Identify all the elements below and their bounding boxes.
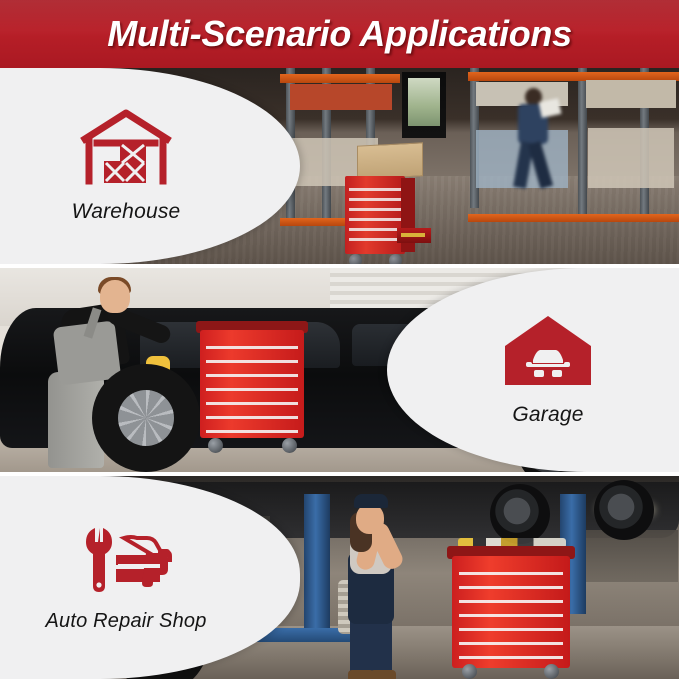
red-tool-cart: [345, 158, 417, 264]
section-garage: Garage: [0, 268, 679, 472]
mechanic-legs: [350, 616, 392, 674]
auto-repair-shop-label: Auto Repair Shop: [45, 610, 206, 633]
red-tool-cabinet: [200, 330, 304, 454]
section-warehouse: Warehouse: [0, 68, 679, 264]
cart-drawer: [459, 614, 563, 617]
cart-caster: [462, 664, 477, 679]
mechanic-cap: [354, 494, 388, 508]
wrench-car-icon: [80, 522, 172, 601]
female-mechanic: [330, 494, 416, 679]
cart-drawer: [459, 600, 563, 603]
red-tool-cart: [452, 556, 570, 679]
cart-drawer: [349, 198, 401, 201]
garage-car-icon: [503, 313, 593, 394]
cart-drawer: [459, 642, 563, 645]
cart-drawer: [459, 572, 563, 575]
cart-drawer: [349, 208, 401, 211]
warehouse-label: Warehouse: [72, 200, 181, 224]
cart-drawer: [349, 228, 401, 231]
cart-drawer: [459, 586, 563, 589]
open-drawer-with-tools: [397, 228, 431, 243]
warehouse-daylight: [408, 78, 440, 126]
cardboard-box: [357, 142, 423, 179]
rack-pallet: [588, 128, 674, 188]
lift-post: [304, 494, 330, 634]
cart-drawer: [459, 628, 563, 631]
page-title: Multi-Scenario Applications: [107, 13, 572, 55]
multi-scenario-applications-poster: Multi-Scenario Applications: [0, 0, 679, 679]
cabinet-caster: [282, 438, 297, 453]
worker-leg: [528, 141, 553, 189]
cabinet-drawer: [206, 346, 298, 349]
cart-caster: [544, 664, 559, 679]
mechanic-head: [100, 280, 130, 313]
cabinet-drawer: [206, 430, 298, 433]
section-auto-repair-shop: Auto Repair Shop: [0, 476, 679, 679]
cabinet-drawer: [206, 360, 298, 363]
mechanic-boot: [370, 670, 396, 679]
warehouse-barn-icon: [80, 108, 172, 191]
rack-beam: [280, 74, 400, 83]
cabinet-drawer: [206, 402, 298, 405]
car-tire: [92, 364, 200, 472]
cabinet-drawer: [206, 388, 298, 391]
rack-pallet: [586, 80, 676, 108]
cart-drawer: [349, 218, 401, 221]
cart-drawer: [349, 188, 401, 191]
lifted-vehicle-wheel: [594, 480, 654, 540]
cart-drawer: [349, 238, 401, 241]
rack-pallet: [290, 84, 392, 110]
mechanic-head: [356, 504, 384, 534]
cart-drawer: [459, 656, 563, 659]
cart-caster: [349, 254, 362, 264]
header-banner: Multi-Scenario Applications: [0, 0, 679, 68]
garage-label: Garage: [512, 403, 583, 427]
cabinet-caster: [208, 438, 223, 453]
cabinet-drawer: [206, 374, 298, 377]
warehouse-worker: [512, 88, 558, 188]
cart-caster: [389, 254, 402, 264]
lifted-vehicle-wheel: [490, 484, 550, 544]
rack-beam: [468, 214, 679, 222]
cabinet-drawer: [206, 416, 298, 419]
